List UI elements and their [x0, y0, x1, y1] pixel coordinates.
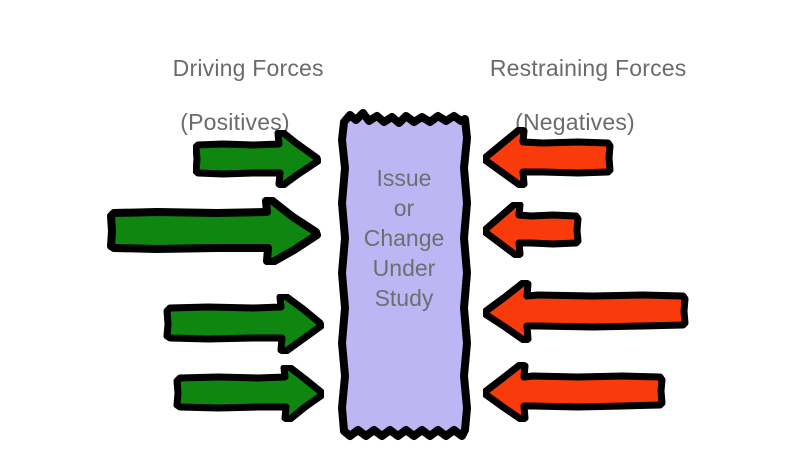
- restraining-arrow-3: [483, 280, 689, 343]
- driving-arrow-1: [193, 130, 321, 188]
- center-box: Issue or Change Under Study: [336, 108, 472, 444]
- driving-arrow-4-shape: [173, 365, 324, 422]
- driving-forces-heading-line1: Driving Forces: [173, 55, 324, 81]
- restraining-arrow-2: [483, 202, 582, 258]
- restraining-arrow-3-shape: [483, 280, 689, 343]
- driving-arrow-3-shape: [163, 294, 324, 354]
- restraining-arrow-2-shape: [483, 202, 582, 258]
- center-box-shape: [336, 108, 472, 444]
- driving-arrow-2: [107, 197, 321, 265]
- restraining-arrow-1: [483, 127, 614, 188]
- driving-arrow-3: [163, 294, 324, 354]
- driving-arrow-1-shape: [193, 130, 321, 188]
- restraining-arrow-4: [483, 362, 666, 422]
- restraining-forces-heading-line1: Restraining Forces: [490, 55, 687, 81]
- driving-arrow-4: [173, 365, 324, 422]
- driving-arrow-2-shape: [107, 197, 321, 265]
- restraining-arrow-4-shape: [483, 362, 666, 422]
- force-field-diagram: Driving Forces (Positives) Restraining F…: [0, 0, 800, 473]
- restraining-arrow-1-shape: [483, 127, 614, 188]
